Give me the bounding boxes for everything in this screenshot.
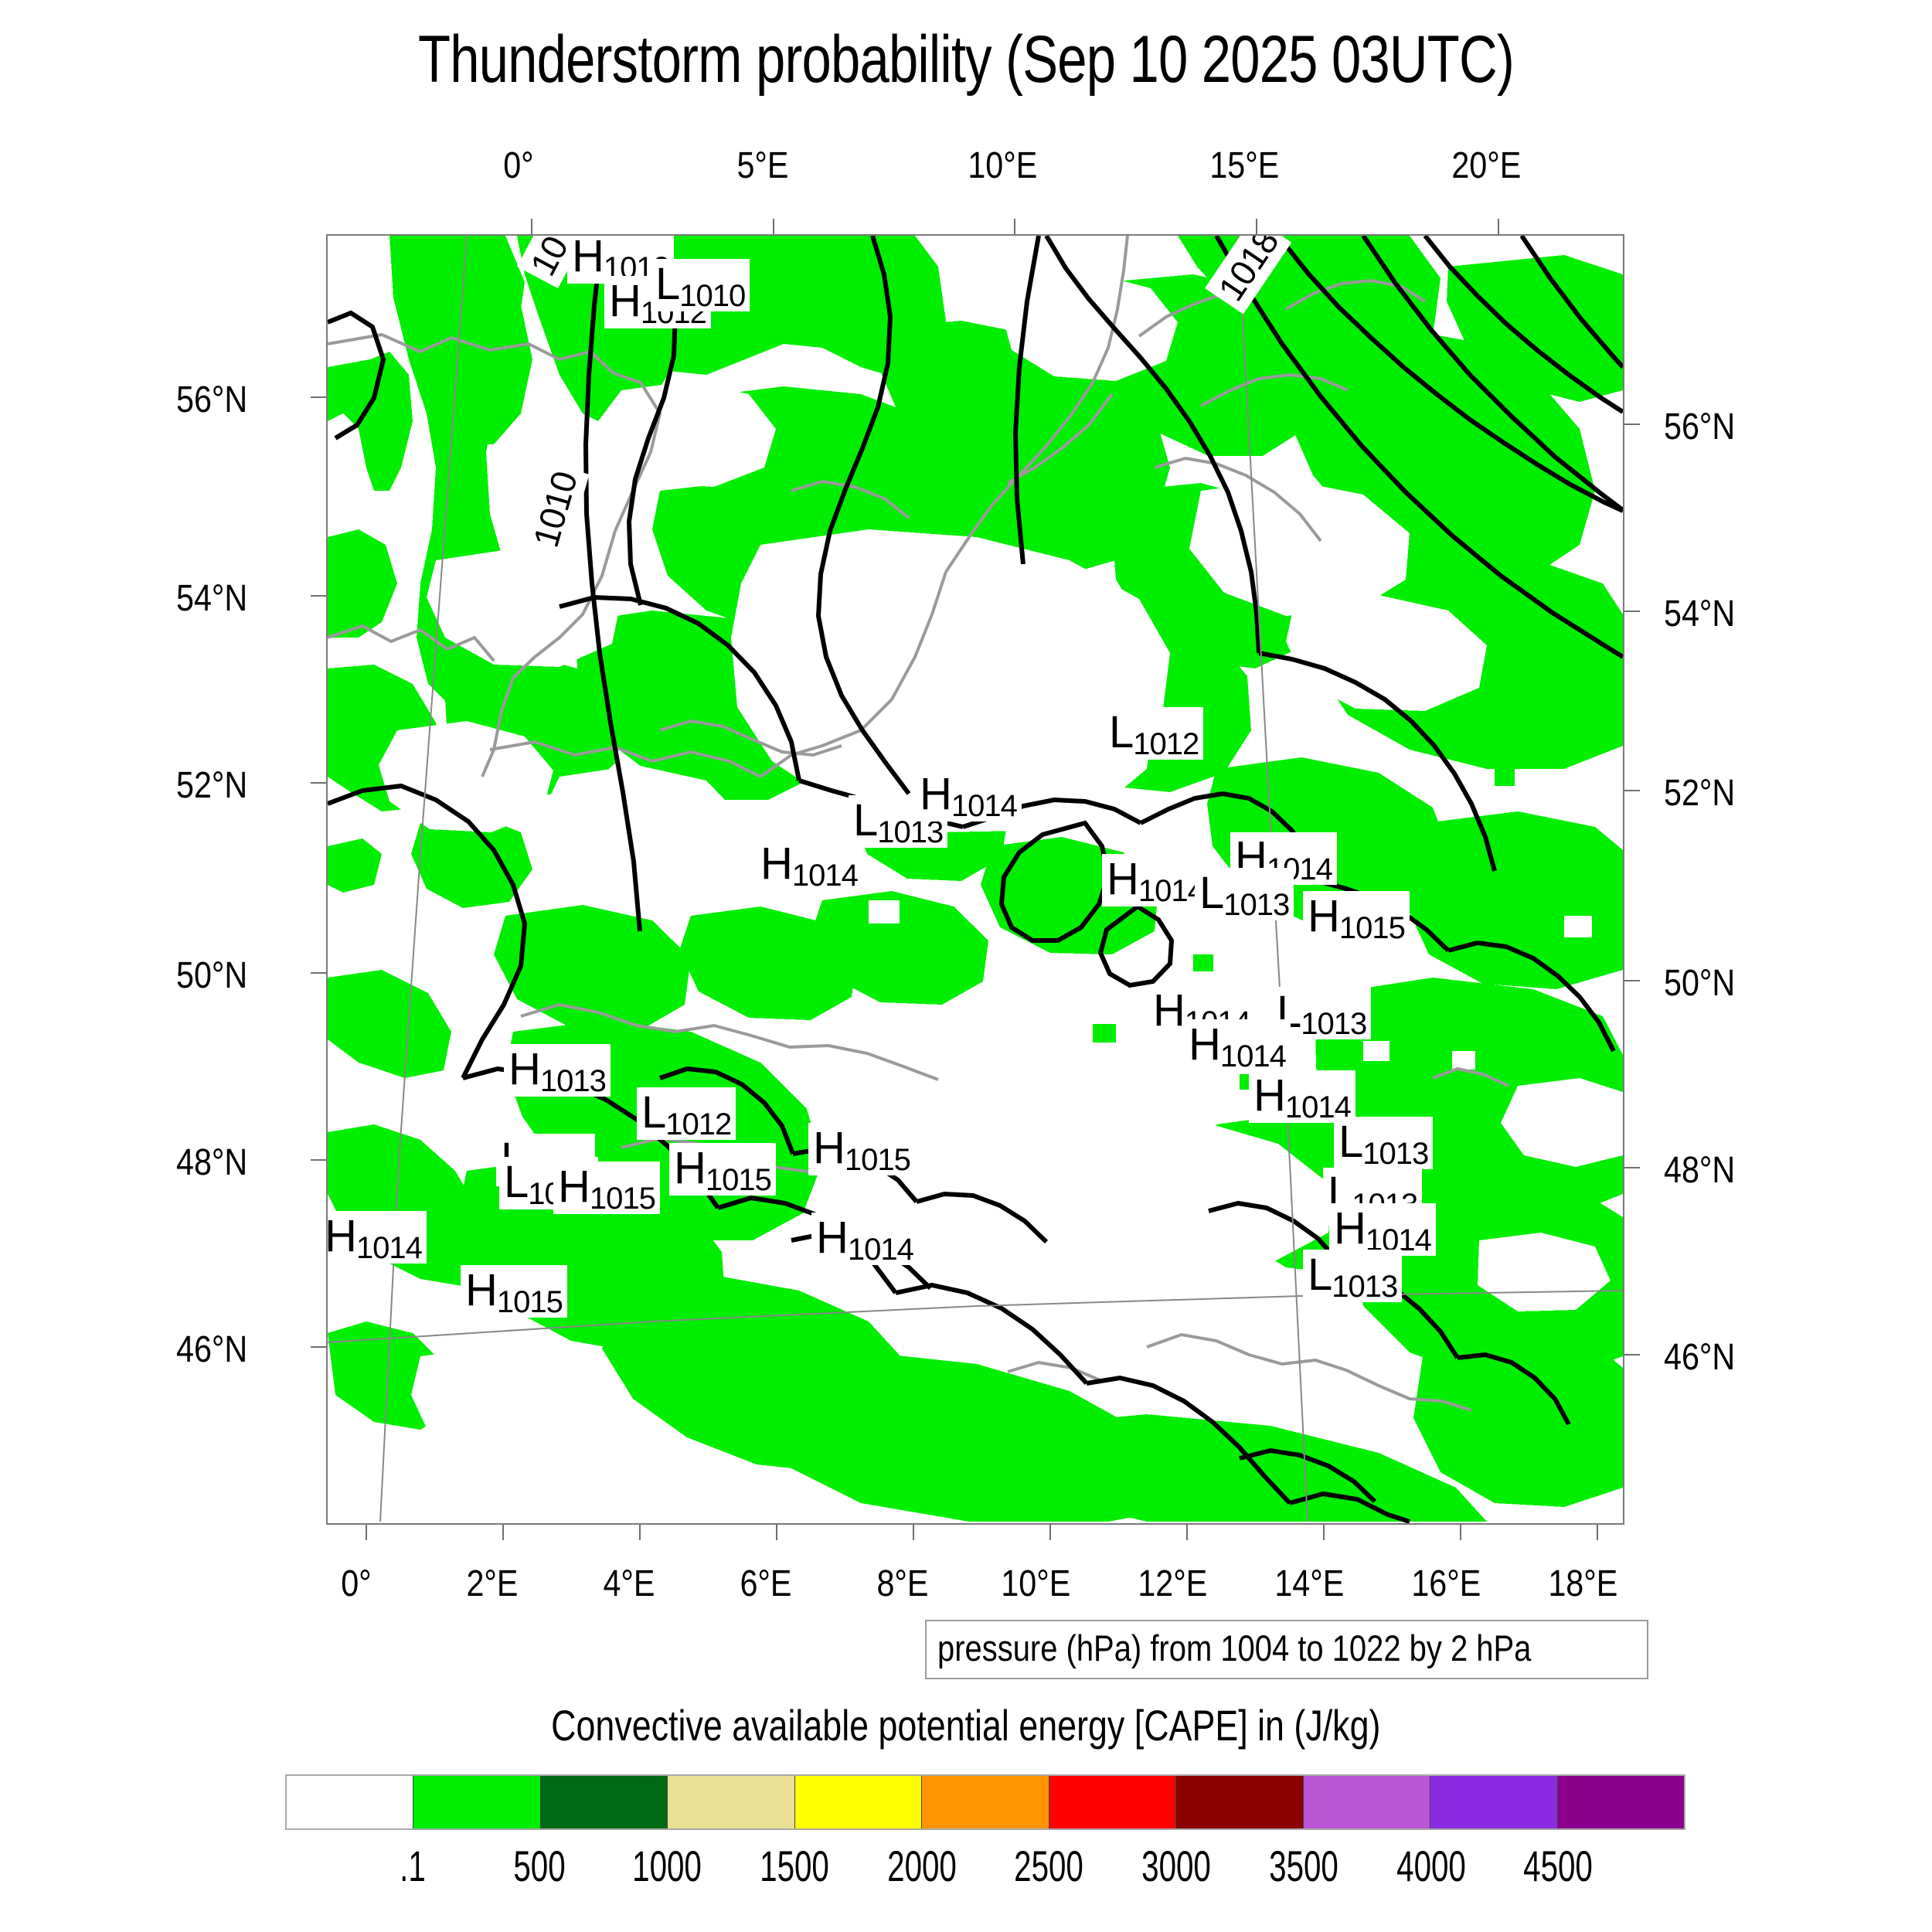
axis-label-lon-bottom: 6°E xyxy=(740,1563,791,1605)
colorbar-swatch xyxy=(541,1776,668,1828)
axis-label-lat-left: 54°N xyxy=(176,577,247,620)
tick-left xyxy=(311,1159,326,1161)
axis-label-lon-top: 10°E xyxy=(968,145,1037,187)
colorbar-swatch xyxy=(922,1776,1049,1828)
tick-top xyxy=(1014,219,1015,234)
cape-shading-layer xyxy=(328,236,1623,1522)
tick-right xyxy=(1624,1167,1640,1168)
colorbar-tick-label: 2500 xyxy=(1015,1841,1084,1891)
pressure-caption-box: pressure (hPa) from 1004 to 1022 by 2 hP… xyxy=(925,1620,1648,1679)
tick-bottom xyxy=(1186,1525,1188,1540)
axis-label-lat-left: 56°N xyxy=(176,379,247,421)
pressure-marker-H: H1014 xyxy=(326,1211,427,1264)
axis-label-lat-left: 48°N xyxy=(176,1141,247,1184)
pressure-marker-H: H1015 xyxy=(1303,891,1410,944)
tick-bottom xyxy=(1049,1525,1051,1540)
tick-right xyxy=(1624,980,1640,981)
tick-left xyxy=(311,595,326,597)
colorbar-swatch xyxy=(1430,1776,1557,1828)
pressure-marker-L: L1013 xyxy=(1195,868,1294,920)
colorbar-swatch xyxy=(413,1776,540,1828)
tick-left xyxy=(311,1346,326,1348)
pressure-marker-L: L1012 xyxy=(1104,707,1203,760)
axis-label-lon-top: 15°E xyxy=(1209,145,1279,187)
tick-bottom xyxy=(776,1525,777,1540)
tick-left xyxy=(311,396,326,398)
axis-label-lat-right: 56°N xyxy=(1664,406,1735,448)
colorbar-swatch xyxy=(668,1776,794,1828)
axis-label-lat-left: 50°N xyxy=(176,954,247,997)
tick-bottom xyxy=(1597,1525,1598,1540)
axis-label-lon-bottom: 8°E xyxy=(876,1563,928,1605)
map-canvas xyxy=(328,236,1623,1523)
pressure-marker-H: H1015 xyxy=(808,1123,915,1175)
colorbar-tick-label: 4000 xyxy=(1396,1841,1466,1891)
pressure-marker-H: H1014 xyxy=(811,1213,918,1265)
axis-label-lat-left: 52°N xyxy=(176,764,247,807)
axis-label-lon-bottom: 12°E xyxy=(1138,1563,1207,1605)
colorbar-swatch xyxy=(795,1776,922,1828)
tick-top xyxy=(531,219,532,234)
axis-label-lat-right: 46°N xyxy=(1664,1336,1735,1379)
tick-top xyxy=(1498,219,1499,234)
colorbar-swatch xyxy=(1558,1776,1684,1828)
cape-caption-text: Convective available potential energy [C… xyxy=(551,1700,1380,1750)
tick-left xyxy=(311,972,326,974)
colorbar-tick-label: .1 xyxy=(400,1841,426,1891)
tick-bottom xyxy=(366,1525,367,1540)
axis-label-lat-right: 48°N xyxy=(1664,1149,1735,1192)
pressure-marker-H: H1014 xyxy=(1249,1070,1355,1123)
pressure-marker-H: H1014 xyxy=(756,838,862,891)
colorbar-tick-label: 1500 xyxy=(760,1841,829,1891)
colorbar-tick-label: 3000 xyxy=(1141,1841,1211,1891)
tick-top xyxy=(773,219,774,234)
axis-label-lat-right: 52°N xyxy=(1664,772,1735,815)
axis-label-lon-bottom: 0° xyxy=(341,1563,371,1605)
axis-label-lat-right: 54°N xyxy=(1664,593,1735,635)
colorbar-tick-label: 1000 xyxy=(632,1841,702,1891)
pressure-marker-L: L1013 xyxy=(1334,1117,1433,1169)
pressure-marker-H: H1015 xyxy=(461,1265,567,1318)
pressure-caption-text: pressure (hPa) from 1004 to 1022 by 2 hP… xyxy=(937,1627,1531,1669)
pressure-marker-H: H1015 xyxy=(553,1162,660,1214)
axis-label-lon-bottom: 4°E xyxy=(603,1563,655,1605)
tick-right xyxy=(1624,611,1640,612)
colorbar-swatch xyxy=(287,1776,413,1828)
pressure-marker-H: H1014 xyxy=(915,769,1022,821)
tick-bottom xyxy=(1460,1525,1461,1540)
tick-bottom xyxy=(913,1525,914,1540)
tick-bottom xyxy=(502,1525,504,1540)
pressure-marker-H: H1014 xyxy=(1329,1203,1436,1256)
cape-colorbar-ticks: .150010001500200025003000350040004500 xyxy=(285,1841,1685,1895)
pressure-marker-L: L1010 xyxy=(651,259,750,311)
axis-label-lat-right: 50°N xyxy=(1664,962,1735,1005)
pressure-marker-H: H1014 xyxy=(1102,854,1209,906)
tick-right xyxy=(1624,423,1640,425)
colorbar-tick-label: 3500 xyxy=(1269,1841,1338,1891)
map-plot-area: 1010 1010 1018 H1012 H1012 L1010 L1012 L… xyxy=(326,234,1624,1525)
tick-right xyxy=(1624,1354,1640,1355)
colorbar-swatch xyxy=(1176,1776,1303,1828)
tick-top xyxy=(1256,219,1257,234)
axis-label-lon-bottom: 2°E xyxy=(466,1563,518,1605)
colorbar-tick-label: 500 xyxy=(514,1841,566,1891)
tick-right xyxy=(1624,790,1640,791)
cape-caption: Convective available potential energy [C… xyxy=(0,1700,1932,1750)
pressure-marker-L: L1012 xyxy=(637,1087,736,1140)
pressure-marker-H: H1013 xyxy=(504,1044,611,1097)
axis-label-lon-bottom: 18°E xyxy=(1548,1563,1617,1605)
tick-bottom xyxy=(1323,1525,1325,1540)
axis-label-lon-bottom: 14°E xyxy=(1274,1563,1344,1605)
axis-label-lon-top: 20°E xyxy=(1451,145,1521,187)
tick-left xyxy=(311,782,326,784)
axis-label-lon-bottom: 16°E xyxy=(1411,1563,1481,1605)
axis-label-lon-top: 0° xyxy=(503,145,533,187)
colorbar-tick-label: 2000 xyxy=(887,1841,957,1891)
colorbar-swatch xyxy=(1049,1776,1176,1828)
axis-label-lon-bottom: 10°E xyxy=(1001,1563,1070,1605)
page-title: Thunderstorm probability (Sep 10 2025 03… xyxy=(193,22,1739,98)
pressure-marker-L: L1013 xyxy=(1303,1250,1402,1302)
colorbar-swatch xyxy=(1304,1776,1430,1828)
axis-label-lat-left: 46°N xyxy=(176,1328,247,1371)
axis-label-lon-top: 5°E xyxy=(736,145,788,187)
pressure-marker-H: H1014 xyxy=(1184,1019,1291,1072)
cape-colorbar xyxy=(285,1774,1685,1830)
tick-bottom xyxy=(639,1525,641,1540)
colorbar-tick-label: 4500 xyxy=(1523,1841,1593,1891)
pressure-marker-H: H1015 xyxy=(669,1143,776,1196)
